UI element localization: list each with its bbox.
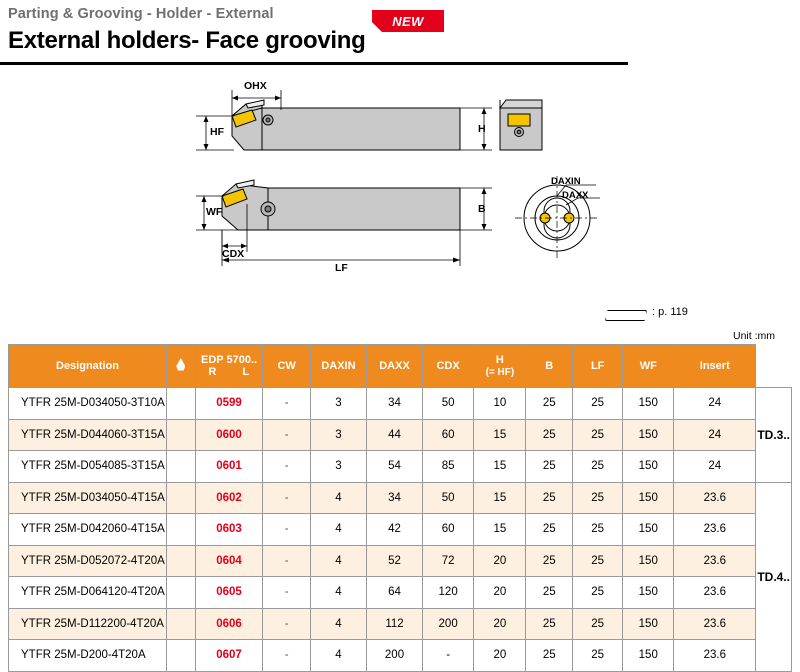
cell-daxx: -	[422, 640, 473, 672]
label-ohx: OHX	[244, 80, 267, 92]
header-edp-label: EDP 5700..	[196, 354, 263, 366]
cell-h: 25	[526, 388, 573, 420]
cell-cdx: 20	[474, 545, 526, 577]
breadcrumb: Parting & Grooving - Holder - External	[8, 6, 274, 22]
cell-daxin: 34	[367, 388, 423, 420]
cell-coolant	[166, 608, 195, 640]
cell-designation: YTFR 25M-D054085-3T15A	[9, 451, 167, 483]
table-row[interactable]: YTFR 25M-D112200-4T20A0606-4112200202525…	[9, 608, 792, 640]
insert-shape-icon	[605, 310, 647, 321]
cell-edp-l: -	[263, 577, 310, 609]
header-cw: CW	[263, 345, 310, 388]
header-h-label: H	[474, 354, 525, 367]
cell-daxx: 72	[422, 545, 473, 577]
cell-daxx: 60	[422, 514, 473, 546]
cell-cdx: 20	[474, 608, 526, 640]
cell-wf: 23.6	[674, 640, 756, 672]
cell-wf: 23.6	[674, 545, 756, 577]
cell-cdx: 15	[474, 482, 526, 514]
cell-cw: 4	[310, 514, 366, 546]
cell-edp-r: 0606	[195, 608, 263, 640]
cell-cw: 4	[310, 482, 366, 514]
cell-edp-l: -	[263, 419, 310, 451]
label-h: H	[478, 123, 486, 135]
table-header-row: Designation EDP 5700.. R L CW DAXIN DAXX…	[9, 345, 792, 388]
cell-lf: 150	[623, 577, 674, 609]
header-designation: Designation	[9, 345, 167, 388]
cell-h: 25	[526, 514, 573, 546]
cell-lf: 150	[623, 482, 674, 514]
cell-wf: 24	[674, 388, 756, 420]
header-edp-r: R	[196, 366, 229, 378]
cell-cdx: 20	[474, 640, 526, 672]
cell-b: 25	[573, 419, 623, 451]
cell-daxx: 50	[422, 388, 473, 420]
cell-lf: 150	[623, 608, 674, 640]
cell-lf: 150	[623, 451, 674, 483]
cell-edp-r: 0599	[195, 388, 263, 420]
page-title: External holders- Face grooving	[8, 27, 365, 55]
cell-daxx: 60	[422, 419, 473, 451]
table-row[interactable]: YTFR 25M-D034050-3T10A0599-3345010252515…	[9, 388, 792, 420]
cell-lf: 150	[623, 545, 674, 577]
label-lf: LF	[335, 262, 348, 274]
cell-cw: 4	[310, 545, 366, 577]
cell-edp-l: -	[263, 451, 310, 483]
table-row[interactable]: YTFR 25M-D044060-3T15A0600-3446015252515…	[9, 419, 792, 451]
cell-insert-group: TD.3..	[756, 388, 792, 483]
label-wf: WF	[206, 206, 222, 218]
label-daxx: DAXX	[562, 190, 588, 201]
cell-b: 25	[573, 482, 623, 514]
cell-edp-l: -	[263, 608, 310, 640]
cell-wf: 24	[674, 419, 756, 451]
cell-h: 25	[526, 640, 573, 672]
header-edp: EDP 5700.. R L	[195, 345, 263, 388]
cell-wf: 23.6	[674, 482, 756, 514]
cell-designation: YTFR 25M-D064120-4T20A	[9, 577, 167, 609]
cell-coolant	[166, 419, 195, 451]
cell-edp-r: 0601	[195, 451, 263, 483]
table-body: YTFR 25M-D034050-3T10A0599-3345010252515…	[9, 388, 792, 672]
cell-cw: 4	[310, 640, 366, 672]
header-h: H (= HF)	[474, 345, 526, 388]
cell-coolant	[166, 514, 195, 546]
cell-coolant	[166, 545, 195, 577]
cell-coolant	[166, 451, 195, 483]
cell-designation: YTFR 25M-D034050-3T10A	[9, 388, 167, 420]
drawing-svg	[0, 70, 800, 310]
title-underline	[0, 62, 628, 65]
table-row[interactable]: YTFR 25M-D034050-4T15A0602-4345015252515…	[9, 482, 792, 514]
label-b: B	[478, 203, 486, 215]
cell-designation: YTFR 25M-D042060-4T15A	[9, 514, 167, 546]
cell-b: 25	[573, 577, 623, 609]
new-badge: NEW	[372, 10, 444, 32]
unit-note: Unit :mm	[733, 330, 775, 342]
cell-coolant	[166, 482, 195, 514]
cell-cdx: 15	[474, 451, 526, 483]
cell-cw: 4	[310, 577, 366, 609]
cell-cw: 3	[310, 451, 366, 483]
table-row[interactable]: YTFR 25M-D054085-3T15A0601-3548515252515…	[9, 451, 792, 483]
cell-cdx: 10	[474, 388, 526, 420]
cell-b: 25	[573, 514, 623, 546]
cell-h: 25	[526, 419, 573, 451]
cell-edp-r: 0605	[195, 577, 263, 609]
header-cdx: CDX	[422, 345, 473, 388]
cell-designation: YTFR 25M-D112200-4T20A	[9, 608, 167, 640]
cell-h: 25	[526, 608, 573, 640]
header-h-sub: (= HF)	[474, 367, 525, 379]
table-row[interactable]: YTFR 25M-D052072-4T20A0604-4527220252515…	[9, 545, 792, 577]
cell-designation: YTFR 25M-D034050-4T15A	[9, 482, 167, 514]
new-badge-label: NEW	[372, 10, 444, 32]
table-row[interactable]: YTFR 25M-D042060-4T15A0603-4426015252515…	[9, 514, 792, 546]
specifications-table: Designation EDP 5700.. R L CW DAXIN DAXX…	[8, 344, 792, 672]
cell-coolant	[166, 640, 195, 672]
cell-edp-r: 0602	[195, 482, 263, 514]
cell-designation: YTFR 25M-D044060-3T15A	[9, 419, 167, 451]
cell-edp-l: -	[263, 545, 310, 577]
cell-daxin: 42	[367, 514, 423, 546]
drop-icon	[176, 358, 185, 371]
header-insert: Insert	[674, 345, 756, 388]
cell-daxx: 120	[422, 577, 473, 609]
cell-daxin: 54	[367, 451, 423, 483]
cell-h: 25	[526, 451, 573, 483]
cell-wf: 24	[674, 451, 756, 483]
cell-coolant	[166, 577, 195, 609]
cell-b: 25	[573, 608, 623, 640]
cell-edp-l: -	[263, 640, 310, 672]
cell-lf: 150	[623, 388, 674, 420]
cell-h: 25	[526, 482, 573, 514]
cell-cdx: 15	[474, 419, 526, 451]
cell-cw: 4	[310, 608, 366, 640]
cell-b: 25	[573, 545, 623, 577]
header-coolant-drop	[166, 345, 195, 388]
cell-lf: 150	[623, 514, 674, 546]
header-daxin: DAXIN	[310, 345, 366, 388]
cell-cdx: 20	[474, 577, 526, 609]
cell-edp-l: -	[263, 388, 310, 420]
cell-daxin: 64	[367, 577, 423, 609]
cell-designation: YTFR 25M-D052072-4T20A	[9, 545, 167, 577]
cell-h: 25	[526, 545, 573, 577]
cell-cw: 3	[310, 388, 366, 420]
cell-daxin: 44	[367, 419, 423, 451]
cell-edp-r: 0607	[195, 640, 263, 672]
label-hf: HF	[210, 126, 224, 138]
table-head: Designation EDP 5700.. R L CW DAXIN DAXX…	[9, 345, 792, 388]
cell-daxx: 200	[422, 608, 473, 640]
page-header: Parting & Grooving - Holder - External	[8, 6, 274, 22]
label-cdx: CDX	[222, 248, 244, 260]
cell-b: 25	[573, 451, 623, 483]
cell-daxx: 85	[422, 451, 473, 483]
cell-daxx: 50	[422, 482, 473, 514]
header-b: B	[526, 345, 573, 388]
cell-cdx: 15	[474, 514, 526, 546]
cell-daxin: 200	[367, 640, 423, 672]
cell-lf: 150	[623, 419, 674, 451]
header-daxx: DAXX	[367, 345, 423, 388]
cell-edp-l: -	[263, 514, 310, 546]
cell-cw: 3	[310, 419, 366, 451]
cell-coolant	[166, 388, 195, 420]
cell-h: 25	[526, 577, 573, 609]
cell-daxin: 112	[367, 608, 423, 640]
table-row[interactable]: YTFR 25M-D200-4T20A0607-4200-20252515023…	[9, 640, 792, 672]
header-edp-l: L	[229, 366, 262, 378]
table-row[interactable]: YTFR 25M-D064120-4T20A0605-4641202025251…	[9, 577, 792, 609]
page-reference: : p. 119	[652, 306, 688, 318]
technical-drawing: OHX HF H WF B CDX LF DAXIN DAXX	[0, 70, 800, 310]
cell-b: 25	[573, 388, 623, 420]
cell-edp-r: 0600	[195, 419, 263, 451]
cell-daxin: 52	[367, 545, 423, 577]
header-lf: LF	[573, 345, 623, 388]
cell-wf: 23.6	[674, 577, 756, 609]
cell-designation: YTFR 25M-D200-4T20A	[9, 640, 167, 672]
cell-edp-l: -	[263, 482, 310, 514]
cell-daxin: 34	[367, 482, 423, 514]
cell-b: 25	[573, 640, 623, 672]
header-wf: WF	[623, 345, 674, 388]
cell-lf: 150	[623, 640, 674, 672]
cell-wf: 23.6	[674, 514, 756, 546]
label-daxin: DAXIN	[551, 176, 581, 187]
cell-wf: 23.6	[674, 608, 756, 640]
cell-edp-r: 0603	[195, 514, 263, 546]
cell-edp-r: 0604	[195, 545, 263, 577]
